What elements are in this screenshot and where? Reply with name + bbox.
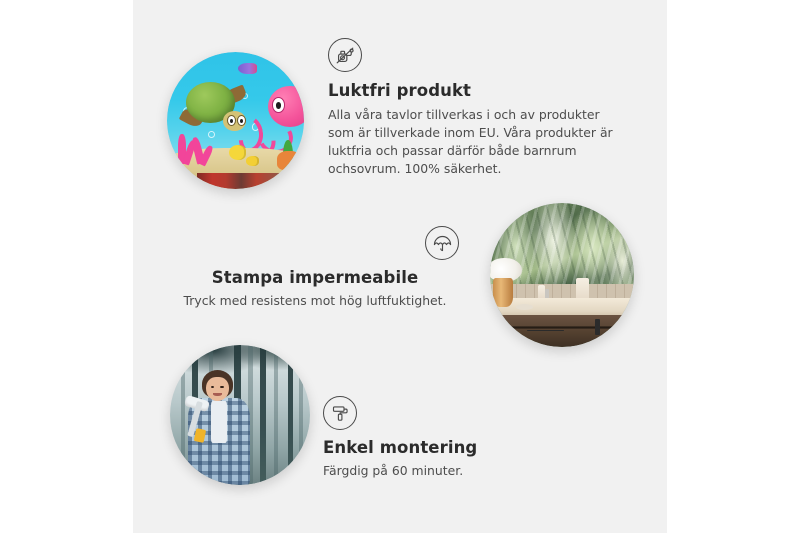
feature-body: Färgdig på 60 minuter.: [323, 462, 603, 480]
feature-body: Tryck med resistens mot hög luftfuktighe…: [155, 292, 475, 310]
feature-title: Stampa impermeabile: [155, 268, 475, 289]
paint-roller-icon: [323, 396, 357, 430]
feature-block-mounting: Enkel montering Färgdig på 60 minuter.: [323, 396, 603, 480]
feature-title: Luktfri produkt: [328, 81, 628, 102]
feature-title: Enkel montering: [323, 438, 603, 459]
no-odour-perfume-icon: [328, 38, 362, 72]
feature-block-waterproof: Stampa impermeabile Tryck med resistens …: [155, 226, 475, 310]
feature-panel: Luktfri produkt Alla våra tavlor tillver…: [133, 0, 667, 533]
feature-image-mounting[interactable]: [170, 345, 310, 485]
umbrella-icon: [425, 226, 459, 260]
feature-image-odourless[interactable]: [167, 52, 304, 189]
screenshot-root: Luktfri produkt Alla våra tavlor tillver…: [0, 0, 800, 533]
icon-wrapper: [155, 226, 475, 260]
feature-block-odourless: Luktfri produkt Alla våra tavlor tillver…: [328, 38, 628, 178]
feature-image-waterproof[interactable]: [490, 203, 634, 347]
feature-body: Alla våra tavlor tillverkas i och av pro…: [328, 106, 628, 178]
